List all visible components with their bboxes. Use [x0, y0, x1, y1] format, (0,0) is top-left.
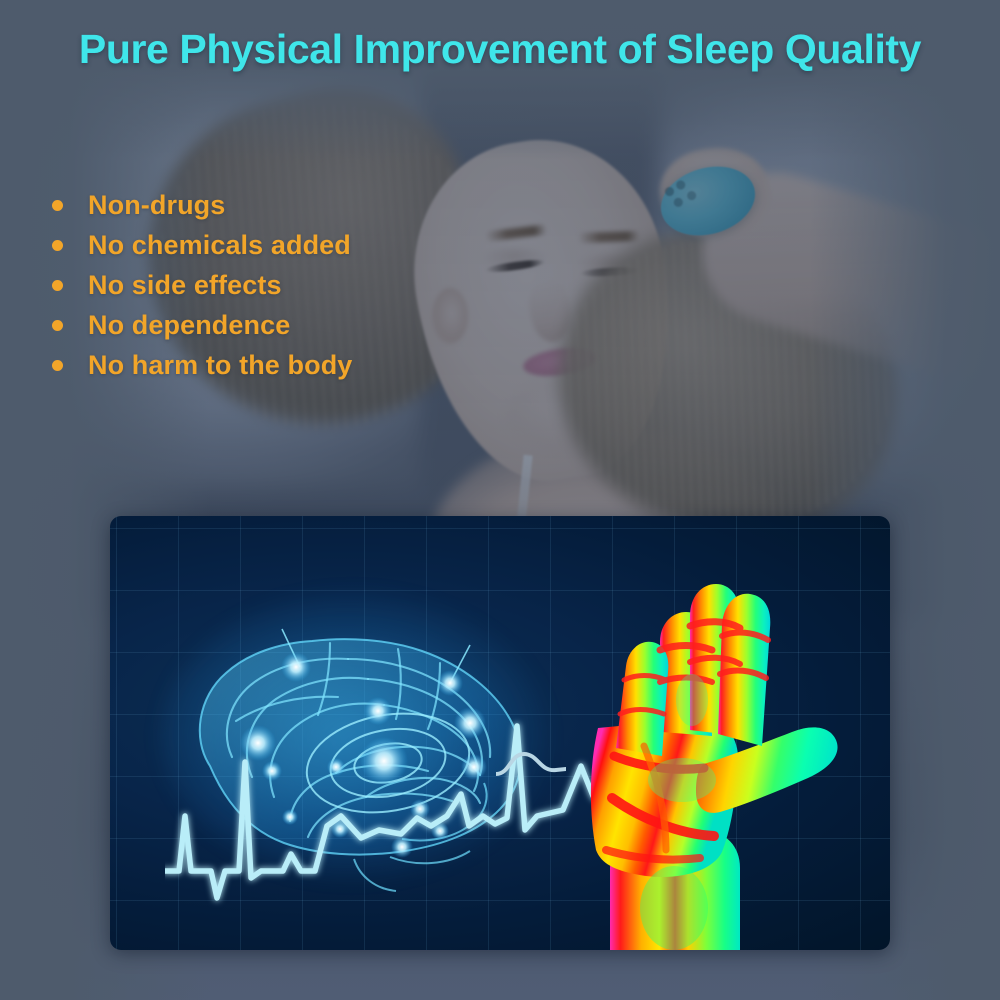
promo-graphic: Pure Physical Improvement of Sleep Quali…	[0, 0, 1000, 1000]
benefits-list: Non-drugs No chemicals added No side eff…	[52, 185, 352, 385]
benefit-label: Non-drugs	[88, 190, 225, 221]
benefit-label: No dependence	[88, 310, 290, 341]
media-panel	[110, 516, 890, 950]
benefit-label: No harm to the body	[88, 350, 352, 381]
list-item: No harm to the body	[52, 345, 352, 385]
page-title: Pure Physical Improvement of Sleep Quali…	[0, 26, 1000, 73]
bullet-dot-icon	[52, 280, 63, 291]
thermal-hand-icon	[554, 550, 854, 950]
bullet-dot-icon	[52, 200, 63, 211]
list-item: No side effects	[52, 265, 352, 305]
list-item: Non-drugs	[52, 185, 352, 225]
thermal-hand-illustration	[554, 550, 854, 950]
bullet-dot-icon	[52, 320, 63, 331]
list-item: No chemicals added	[52, 225, 352, 265]
bullet-dot-icon	[52, 240, 63, 251]
benefit-label: No side effects	[88, 270, 282, 301]
bullet-dot-icon	[52, 360, 63, 371]
benefit-label: No chemicals added	[88, 230, 351, 261]
list-item: No dependence	[52, 305, 352, 345]
